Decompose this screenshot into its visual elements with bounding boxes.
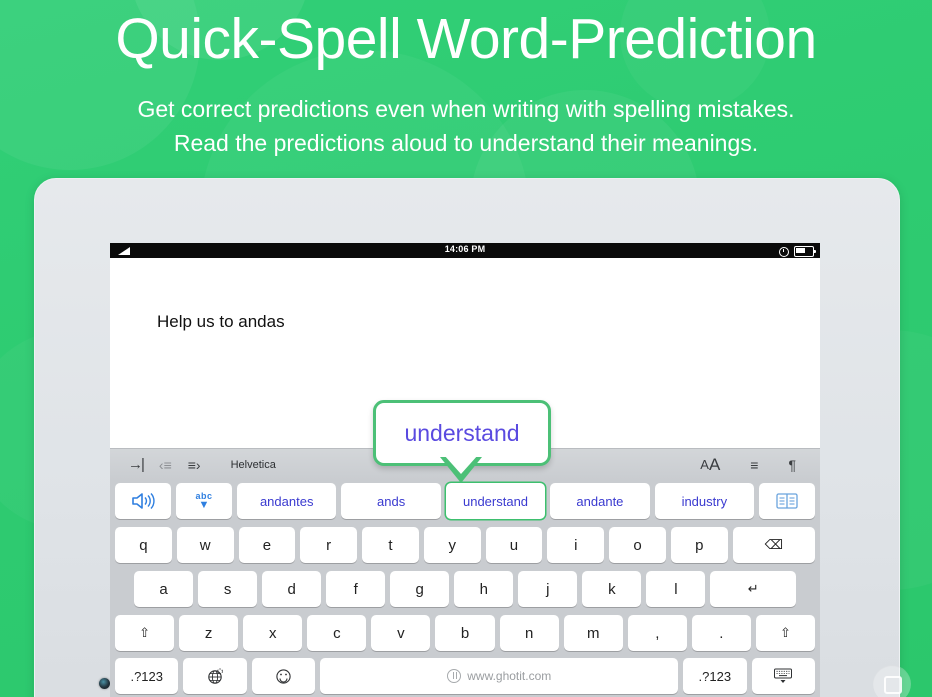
format-toolbar-right: AA ≡ ¶ xyxy=(700,456,820,473)
return-key[interactable]: ↵ xyxy=(710,571,796,607)
prediction-word-3[interactable]: andante xyxy=(550,483,649,519)
status-bar-time: 14:06 PM xyxy=(110,244,820,254)
key-i[interactable]: i xyxy=(547,527,604,563)
font-size-icon[interactable]: AA xyxy=(700,456,720,473)
key-q[interactable]: q xyxy=(115,527,172,563)
key-z[interactable]: z xyxy=(179,615,238,651)
keyboard-row-2: a s d f g h j k l ↵ xyxy=(110,567,820,611)
hero-banner: Quick-Spell Word-Prediction Get correct … xyxy=(0,0,932,697)
key-period[interactable]: . xyxy=(692,615,751,651)
key-d[interactable]: d xyxy=(262,571,321,607)
dictionary-icon xyxy=(776,492,798,510)
status-bar-right xyxy=(779,246,814,257)
key-b[interactable]: b xyxy=(435,615,494,651)
space-key-label: www.ghotit.com xyxy=(467,669,551,683)
keyboard-row-3: ⇧ z x c v b n m , . ⇧ xyxy=(110,611,820,655)
key-e[interactable]: e xyxy=(239,527,296,563)
space-key[interactable]: www.ghotit.com xyxy=(320,658,678,694)
tab-stop-icon[interactable]: →| xyxy=(128,457,143,472)
abc-dropdown-icon: abc▼ xyxy=(195,492,212,511)
key-t[interactable]: t xyxy=(362,527,419,563)
battery-icon xyxy=(794,246,814,257)
prediction-word-2[interactable]: understand xyxy=(446,483,545,519)
keyboard-row-1: q w e r t y u i o p ⌫ xyxy=(110,523,820,567)
key-g[interactable]: g xyxy=(390,571,449,607)
word-tooltip-text: understand xyxy=(404,420,519,447)
key-r[interactable]: r xyxy=(300,527,357,563)
keyboard-dismiss-icon xyxy=(773,668,793,684)
key-h[interactable]: h xyxy=(454,571,513,607)
key-y[interactable]: y xyxy=(424,527,481,563)
document-text: Help us to andas xyxy=(157,312,285,332)
space-url-icon xyxy=(447,669,461,683)
smiley-icon xyxy=(275,668,292,685)
decrease-indent-icon[interactable]: ‹≡ xyxy=(159,458,172,472)
key-l[interactable]: l xyxy=(646,571,705,607)
dictionary-button[interactable] xyxy=(759,483,815,519)
prediction-word-0[interactable]: andantes xyxy=(237,483,336,519)
key-x[interactable]: x xyxy=(243,615,302,651)
globe-icon xyxy=(207,668,224,685)
speaker-icon xyxy=(130,492,156,510)
key-o[interactable]: o xyxy=(609,527,666,563)
key-j[interactable]: j xyxy=(518,571,577,607)
prediction-word-1[interactable]: ands xyxy=(341,483,440,519)
subtitle-line-2: Read the predictions aloud to understand… xyxy=(0,126,932,160)
clock-icon xyxy=(779,247,789,257)
format-toolbar-left: →| ‹≡ ≡› Helvetica xyxy=(110,457,276,472)
numbers-key-left[interactable]: .?123 xyxy=(115,658,178,694)
key-p[interactable]: p xyxy=(671,527,728,563)
key-w[interactable]: w xyxy=(177,527,234,563)
shift-key-left[interactable]: ⇧ xyxy=(115,615,174,651)
shift-key-right[interactable]: ⇧ xyxy=(756,615,815,651)
word-tooltip-tail-inner xyxy=(444,455,478,474)
key-f[interactable]: f xyxy=(326,571,385,607)
key-u[interactable]: u xyxy=(486,527,543,563)
front-camera-icon xyxy=(99,678,110,689)
status-bar: 14:06 PM xyxy=(110,243,820,258)
abc-dropdown-button[interactable]: abc▼ xyxy=(176,483,232,519)
globe-key[interactable] xyxy=(183,658,246,694)
home-button-square-icon xyxy=(884,676,902,694)
numbers-key-right[interactable]: .?123 xyxy=(683,658,746,694)
align-icon[interactable]: ≡ xyxy=(750,458,758,472)
prediction-bar: abc▼ andantes ands understand andante in… xyxy=(110,479,820,523)
backspace-key[interactable]: ⌫ xyxy=(733,527,815,563)
emoji-key[interactable] xyxy=(252,658,315,694)
key-n[interactable]: n xyxy=(500,615,559,651)
page-subtitle: Get correct predictions even when writin… xyxy=(0,92,932,160)
prediction-word-4[interactable]: industry xyxy=(655,483,754,519)
key-c[interactable]: c xyxy=(307,615,366,651)
speaker-icon-button[interactable] xyxy=(115,483,171,519)
paragraph-mark-icon[interactable]: ¶ xyxy=(788,458,796,472)
font-name-label[interactable]: Helvetica xyxy=(217,459,276,471)
key-m[interactable]: m xyxy=(564,615,623,651)
increase-indent-icon[interactable]: ≡› xyxy=(188,458,201,472)
keyboard-row-4: .?123 xyxy=(110,655,820,697)
subtitle-line-1: Get correct predictions even when writin… xyxy=(0,92,932,126)
key-k[interactable]: k xyxy=(582,571,641,607)
key-v[interactable]: v xyxy=(371,615,430,651)
on-screen-keyboard: q w e r t y u i o p ⌫ a s d f g h j k xyxy=(110,523,820,697)
page-title: Quick-Spell Word-Prediction xyxy=(0,5,932,73)
key-s[interactable]: s xyxy=(198,571,257,607)
keyboard-dismiss-key[interactable] xyxy=(752,658,815,694)
home-button[interactable] xyxy=(873,665,911,697)
key-a[interactable]: a xyxy=(134,571,193,607)
key-comma[interactable]: , xyxy=(628,615,687,651)
